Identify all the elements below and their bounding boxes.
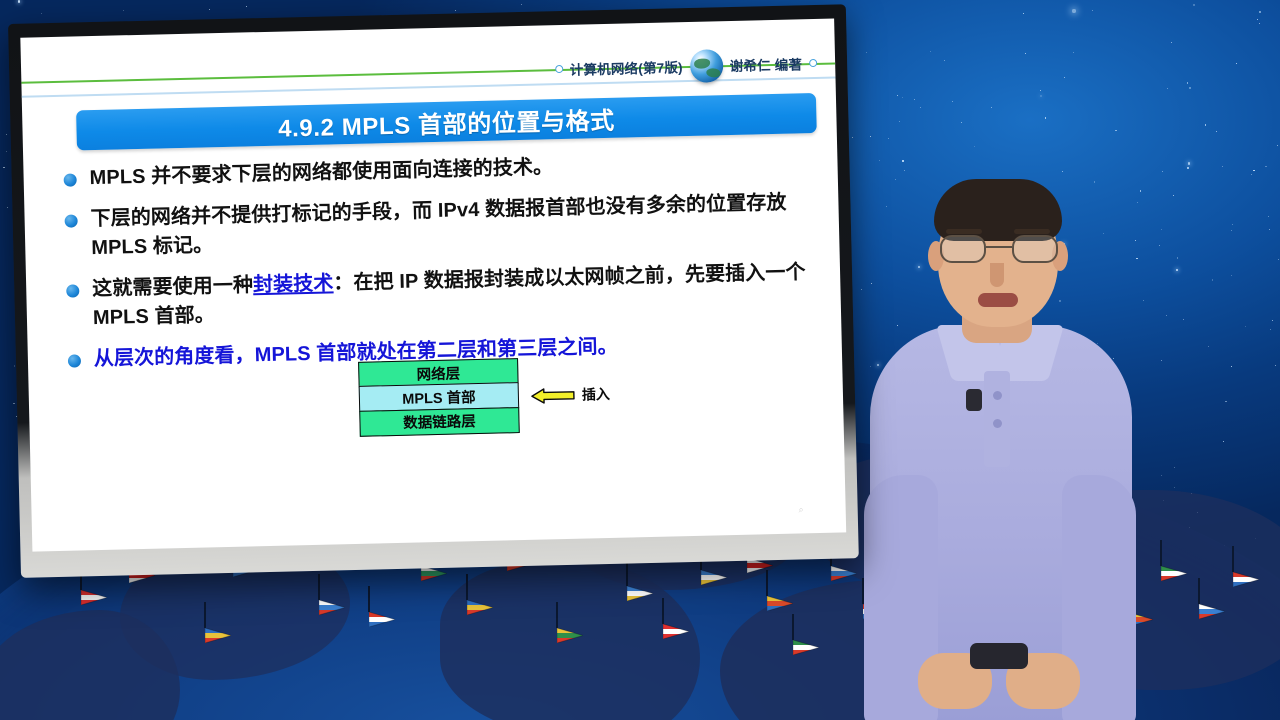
protocol-stack-diagram: 网络层 MPLS 首部 数据链路层 插入 xyxy=(358,356,610,435)
bullet-segment: 下层的网络并不提供打标记的手段，而 IPv4 数据报首部也没有多余的位置存放 M… xyxy=(90,192,786,259)
presenter xyxy=(866,175,1136,720)
slide-header: 计算机网络(第7版) 谢希仁 编著 xyxy=(21,43,836,102)
arrow-left-icon xyxy=(531,386,575,404)
circle-marker-icon-end xyxy=(809,59,817,67)
presenter-nose xyxy=(990,263,1004,287)
slide-watermark: ⌕ xyxy=(798,504,803,515)
presenter-button-bottom xyxy=(993,419,1002,428)
presenter-eyebrow-left xyxy=(946,229,982,234)
video-frame: 计算机网络(第7版) 谢希仁 编著 4.9.2 MPLS 首部的位置与格式 MP… xyxy=(0,0,1280,720)
eyeglasses-icon xyxy=(940,235,1058,265)
bullet-segment: MPLS 并不要求下层的网络都使用面向连接的技术。 xyxy=(89,156,553,189)
lapel-microphone xyxy=(966,389,982,411)
bullet-text: 下层的网络并不提供打标记的手段，而 IPv4 数据报首部也没有多余的位置存放 M… xyxy=(90,188,813,262)
bullet-list: MPLS 并不要求下层的网络都使用面向连接的技术。下层的网络并不提供打标记的手段… xyxy=(63,147,816,387)
presentation-display: 计算机网络(第7版) 谢希仁 编著 4.9.2 MPLS 首部的位置与格式 MP… xyxy=(8,4,859,578)
insert-label: 插入 xyxy=(582,384,610,405)
bullet-marker-icon xyxy=(66,285,79,298)
slide-content: 计算机网络(第7版) 谢希仁 编著 4.9.2 MPLS 首部的位置与格式 MP… xyxy=(20,19,846,552)
bullet-marker-icon xyxy=(68,354,81,367)
layer-data-link: 数据链路层 xyxy=(359,407,520,437)
display-bezel: 计算机网络(第7版) 谢希仁 编著 4.9.2 MPLS 首部的位置与格式 MP… xyxy=(8,4,859,578)
bullet-segment: 这就需要使用一种 xyxy=(92,274,253,300)
globe-icon xyxy=(689,49,723,83)
presenter-mouth xyxy=(978,293,1018,307)
page-title: 4.9.2 MPLS 首部的位置与格式 xyxy=(278,100,616,143)
bullet-segment: 封装技术 xyxy=(253,273,334,297)
book-author: 谢希仁 编著 xyxy=(729,53,802,75)
bullet-text: MPLS 并不要求下层的网络都使用面向连接的技术。 xyxy=(89,153,553,192)
circle-marker-icon xyxy=(555,65,563,73)
bullet-marker-icon xyxy=(65,215,78,228)
bullet-text: 这就需要使用一种封装技术：在把 IP 数据报封装成以太网帧之前，先要插入一个 M… xyxy=(92,258,815,332)
presenter-button-top xyxy=(993,391,1002,400)
bullet-item: 下层的网络并不提供打标记的手段，而 IPv4 数据报首部也没有多余的位置存放 M… xyxy=(64,188,813,262)
bullet-item: 这就需要使用一种封装技术：在把 IP 数据报封装成以太网帧之前，先要插入一个 M… xyxy=(66,258,815,332)
presenter-eyebrow-right xyxy=(1014,229,1050,234)
insert-annotation: 插入 xyxy=(531,384,610,406)
slide-screen: 计算机网络(第7版) 谢希仁 编著 4.9.2 MPLS 首部的位置与格式 MP… xyxy=(20,19,846,552)
presentation-clicker xyxy=(970,643,1028,669)
slide-title-bar: 4.9.2 MPLS 首部的位置与格式 xyxy=(76,93,817,150)
bullet-marker-icon xyxy=(64,173,77,186)
bullet-item: MPLS 并不要求下层的网络都使用面向连接的技术。 xyxy=(63,147,811,193)
book-title: 计算机网络(第7版) xyxy=(570,56,683,79)
